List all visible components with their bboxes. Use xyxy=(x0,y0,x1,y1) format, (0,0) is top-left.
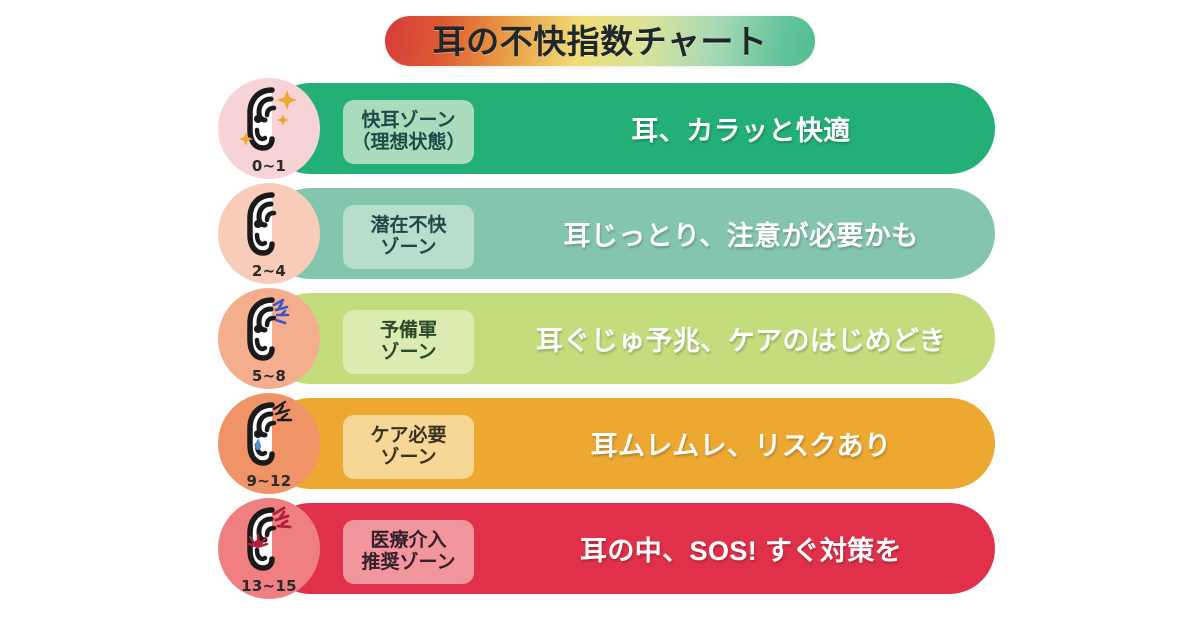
title-gradient-pill: 耳の不快指数チャート xyxy=(385,16,815,66)
page-title: 耳の不快指数チャート xyxy=(433,25,768,58)
zone-row[interactable]: ケア必要 ゾーン 耳ムレムレ、リスクあり xyxy=(0,393,1200,494)
zone-badge: 5~8 xyxy=(218,288,320,389)
zone-label-line1: 潜在不快 xyxy=(370,215,446,237)
zone-label-line1: 医療介入 xyxy=(370,530,446,552)
zone-label-chip: ケア必要 ゾーン xyxy=(343,415,474,479)
zone-badge: 2~4 xyxy=(218,183,320,284)
zone-label-line2: ゾーン xyxy=(380,237,436,259)
zone-badge: 0~1 xyxy=(218,78,320,179)
zone-label-line2: ゾーン xyxy=(380,342,436,364)
zone-bar: 予備軍 ゾーン 耳ぐじゅ予兆、ケアのはじめどき xyxy=(265,293,995,384)
zone-bar: 快耳ゾーン （理想状態） 耳、カラッと快適 xyxy=(265,83,995,174)
zone-row[interactable]: 快耳ゾーン （理想状態） 耳、カラッと快適 xyxy=(0,78,1200,179)
zone-description: 耳ぐじゅ予兆、ケアのはじめどき xyxy=(515,293,967,384)
zone-row[interactable]: 予備軍 ゾーン 耳ぐじゅ予兆、ケアのはじめどき xyxy=(0,288,1200,389)
zone-bar: 潜在不快 ゾーン 耳じっとり、注意が必要かも xyxy=(265,188,995,279)
ear-alert-red-icon xyxy=(238,506,300,574)
zone-label-line1: 予備軍 xyxy=(380,320,437,342)
zone-description: 耳の中、SOS! すぐ対策を xyxy=(515,503,967,594)
ear-tear-icon xyxy=(238,401,300,469)
zone-description: 耳、カラッと快適 xyxy=(515,83,967,174)
ear-plain-icon xyxy=(238,191,300,259)
ear-drip-blue-icon xyxy=(238,296,300,364)
zone-description: 耳ムレムレ、リスクあり xyxy=(515,398,967,489)
zone-badge: 13~15 xyxy=(218,498,320,599)
zone-description: 耳じっとり、注意が必要かも xyxy=(515,188,967,279)
zone-label-line2: ゾーン xyxy=(380,447,436,469)
zone-label-chip: 潜在不快 ゾーン xyxy=(343,205,474,269)
zone-label-chip: 予備軍 ゾーン xyxy=(343,310,474,374)
zone-label-line2: （理想状態） xyxy=(351,132,465,154)
zone-badge: 9~12 xyxy=(218,393,320,494)
ear-sparkle-icon xyxy=(238,86,300,154)
infographic-canvas: 耳の不快指数チャート 快耳ゾーン （理想状態） 耳、カラッと快適 xyxy=(0,0,1200,628)
zone-label-line1: ケア必要 xyxy=(370,425,446,447)
zone-bar: ケア必要 ゾーン 耳ムレムレ、リスクあり xyxy=(265,398,995,489)
zone-score: 2~4 xyxy=(218,262,320,280)
zone-row[interactable]: 医療介入 推奨ゾーン 耳の中、SOS! すぐ対策を xyxy=(0,498,1200,599)
zone-score: 5~8 xyxy=(218,367,320,385)
zone-bar: 医療介入 推奨ゾーン 耳の中、SOS! すぐ対策を xyxy=(265,503,995,594)
zone-row[interactable]: 潜在不快 ゾーン 耳じっとり、注意が必要かも 2~4 xyxy=(0,183,1200,284)
title-banner: 耳の不快指数チャート xyxy=(385,16,815,66)
zone-label-chip: 医療介入 推奨ゾーン xyxy=(343,520,474,584)
zone-score: 0~1 xyxy=(218,157,320,175)
zone-label-chip: 快耳ゾーン （理想状態） xyxy=(343,100,474,164)
zone-score: 9~12 xyxy=(218,472,320,490)
zone-label-line2: 推奨ゾーン xyxy=(361,552,455,574)
zone-score: 13~15 xyxy=(218,577,320,595)
zone-row-list: 快耳ゾーン （理想状態） 耳、カラッと快適 xyxy=(0,78,1200,603)
zone-label-line1: 快耳ゾーン xyxy=(361,110,455,132)
